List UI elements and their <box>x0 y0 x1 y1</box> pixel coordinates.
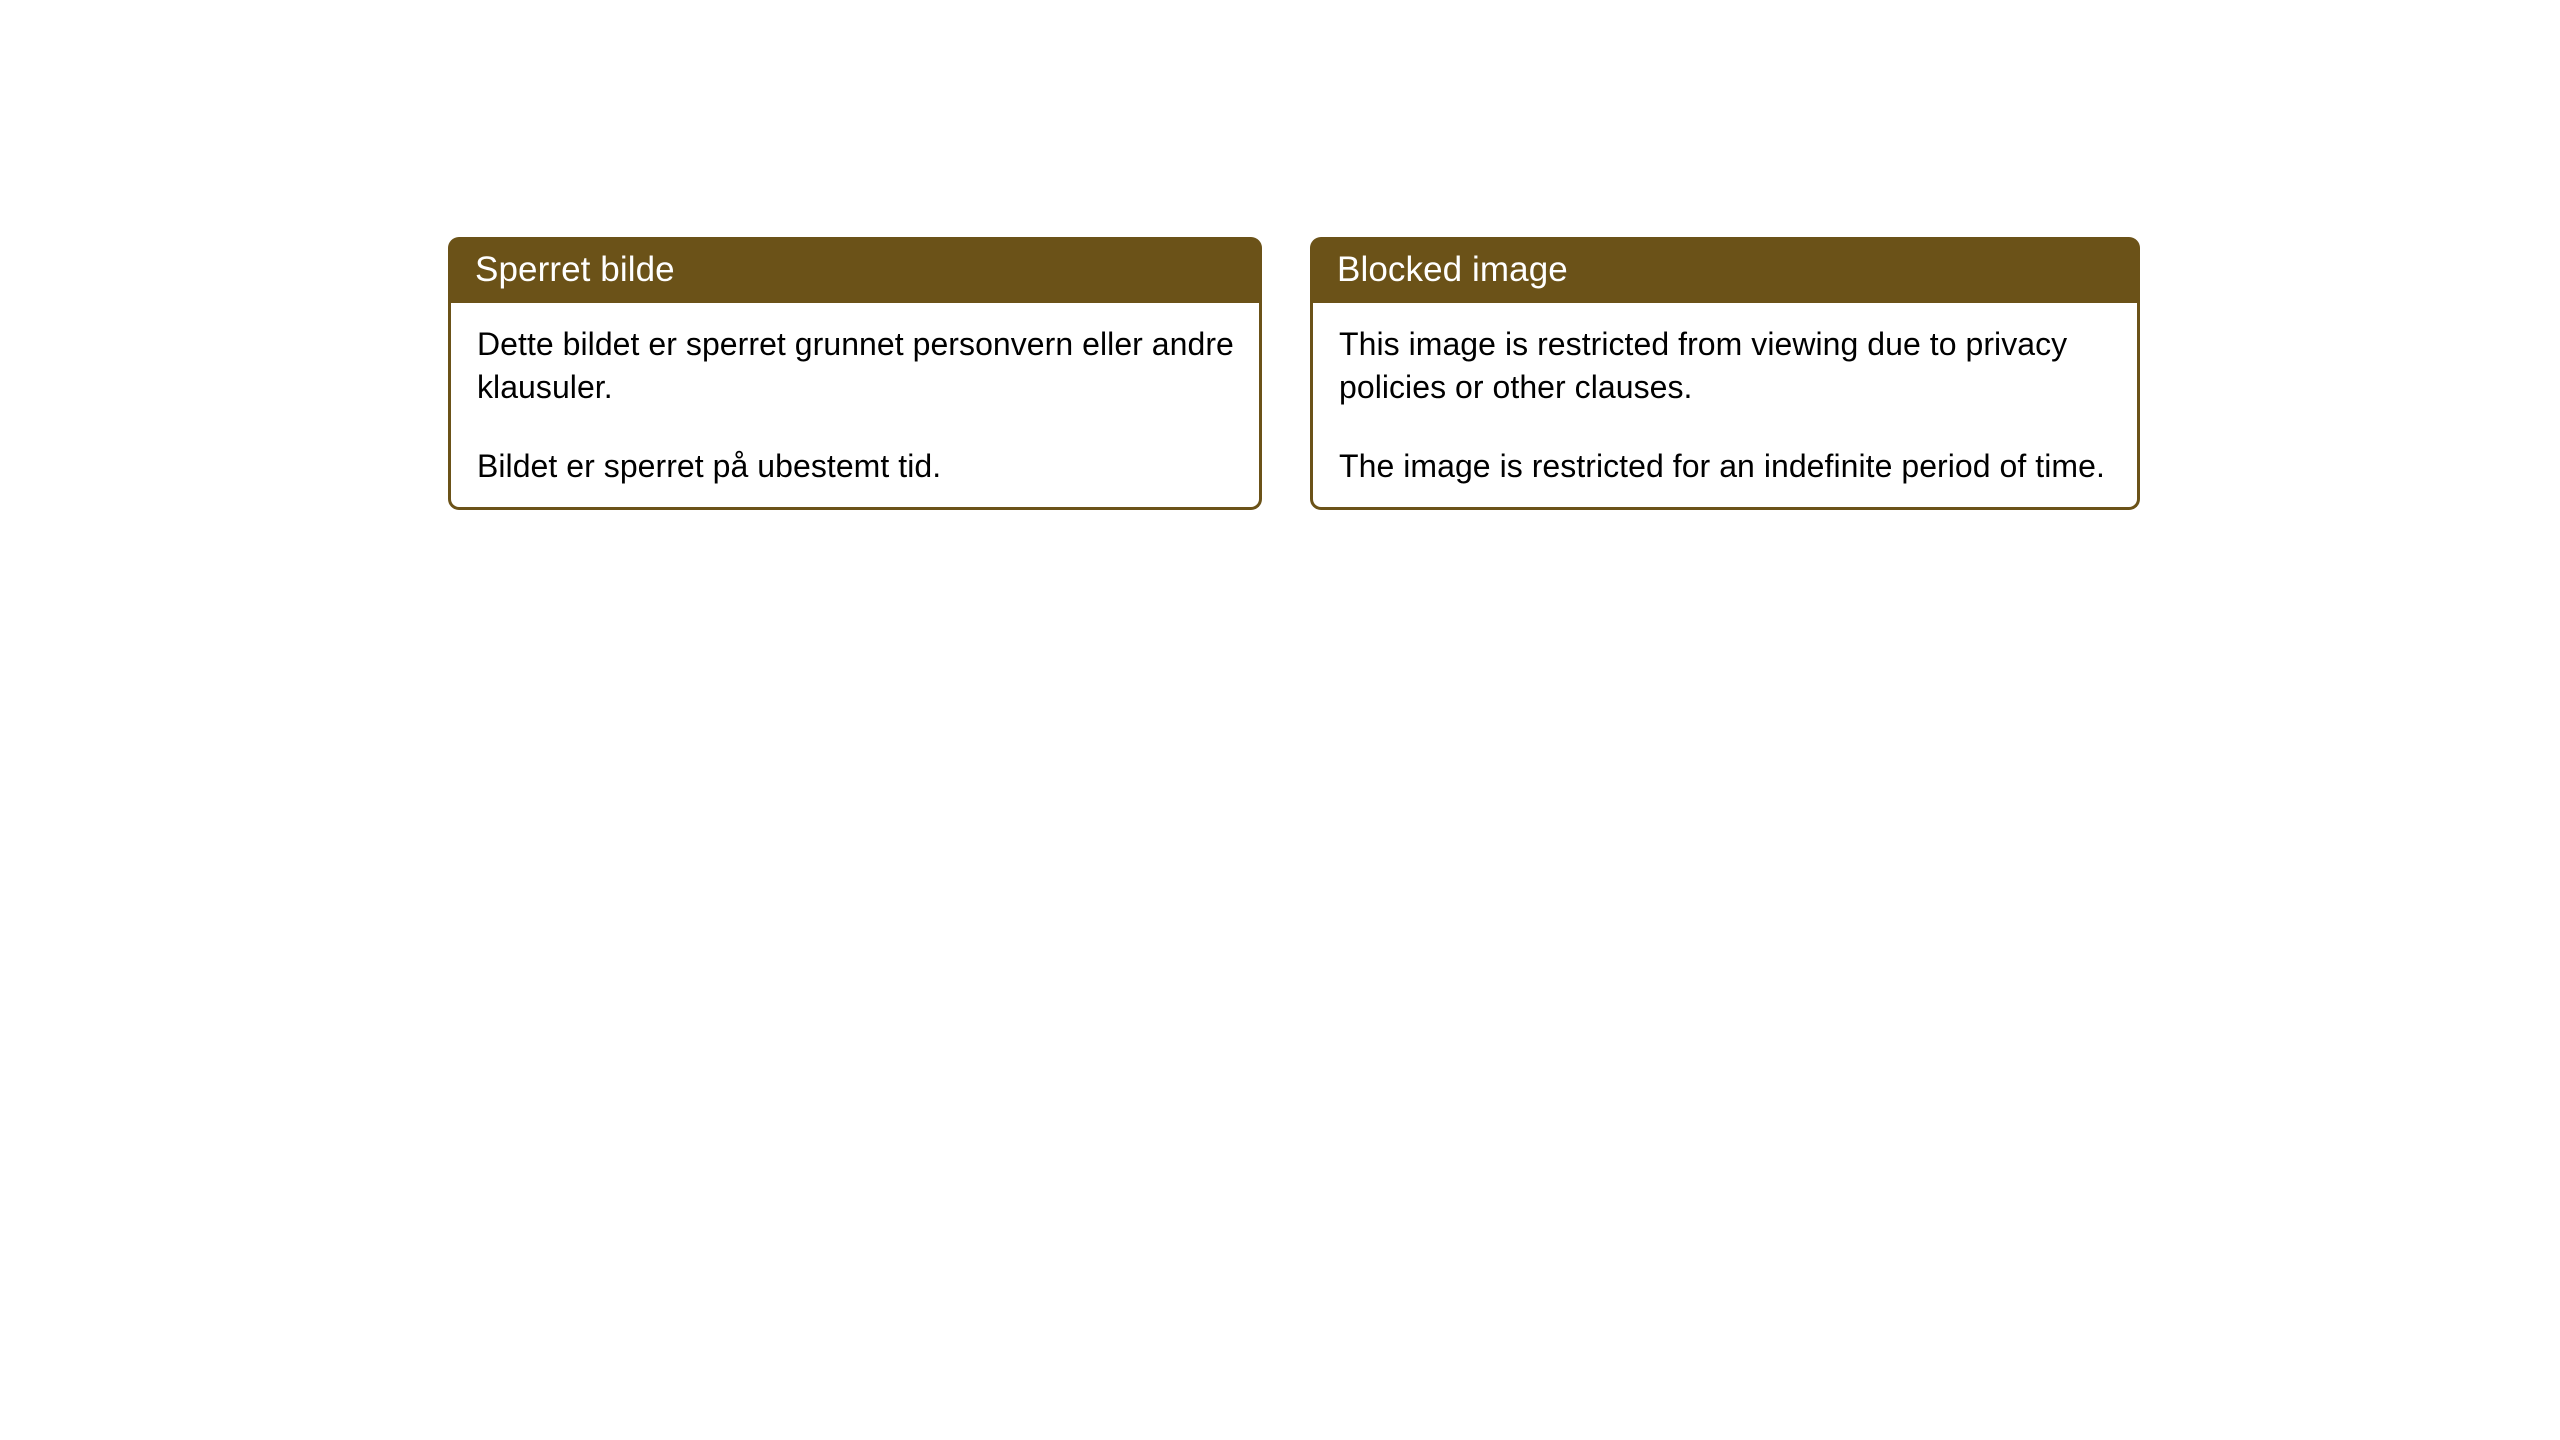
notice-paragraph-duration-english: The image is restricted for an indefinit… <box>1339 445 2113 488</box>
page-canvas: Sperret bilde Dette bildet er sperret gr… <box>0 0 2560 1440</box>
notice-card-header-norwegian: Sperret bilde <box>448 237 1262 303</box>
notice-card-body-norwegian: Dette bildet er sperret grunnet personve… <box>448 301 1262 510</box>
blocked-image-notice-group: Sperret bilde Dette bildet er sperret gr… <box>448 237 2140 510</box>
blocked-image-notice-card-norwegian: Sperret bilde Dette bildet er sperret gr… <box>448 237 1262 510</box>
notice-card-title-english: Blocked image <box>1337 250 1568 290</box>
notice-card-body-english: This image is restricted from viewing du… <box>1310 301 2140 510</box>
blocked-image-notice-card-english: Blocked image This image is restricted f… <box>1310 237 2140 510</box>
notice-paragraph-duration-norwegian: Bildet er sperret på ubestemt tid. <box>477 445 1235 488</box>
notice-paragraph-reason-norwegian: Dette bildet er sperret grunnet personve… <box>477 323 1235 409</box>
notice-card-header-english: Blocked image <box>1310 237 2140 303</box>
paragraph-spacer <box>477 409 1235 445</box>
paragraph-spacer <box>1339 409 2113 445</box>
notice-paragraph-reason-english: This image is restricted from viewing du… <box>1339 323 2113 409</box>
notice-card-title-norwegian: Sperret bilde <box>475 250 675 290</box>
